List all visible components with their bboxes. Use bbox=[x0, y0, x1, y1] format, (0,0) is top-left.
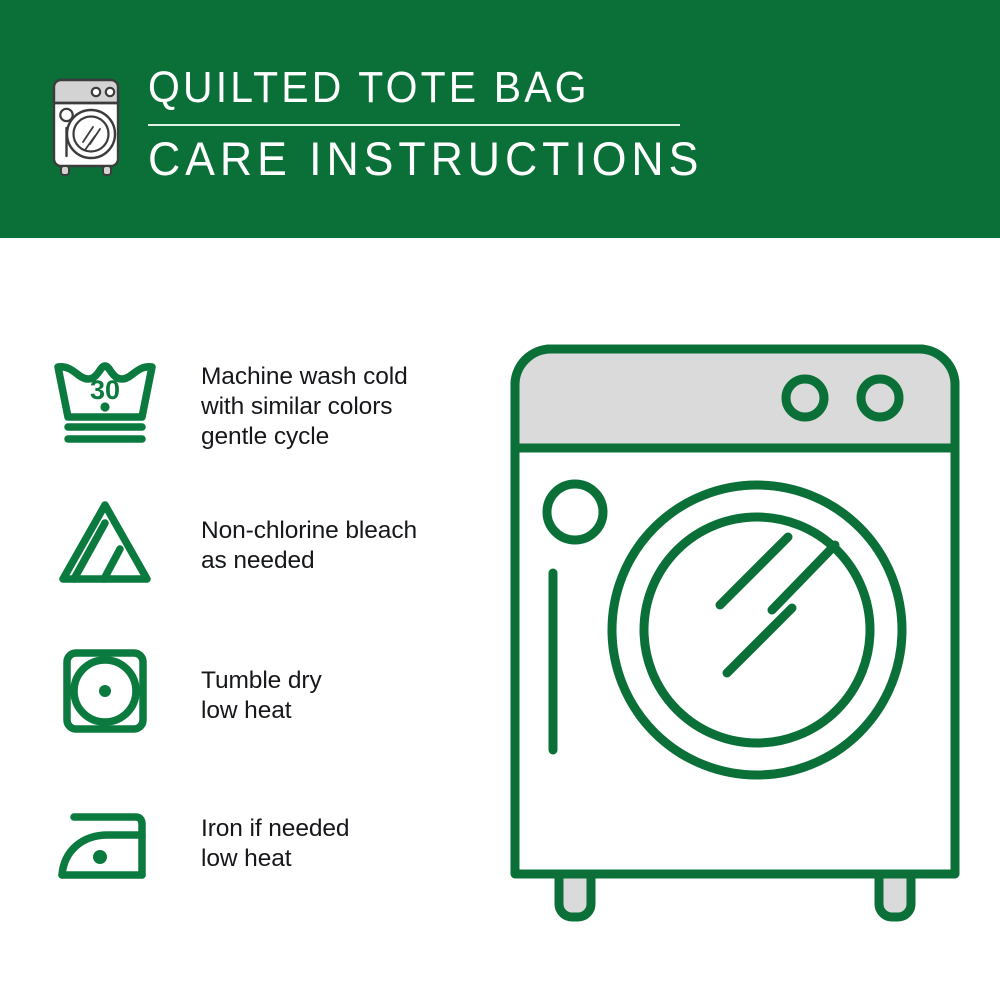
care-row-label: Non-chlorine bleach as needed bbox=[201, 488, 417, 576]
header-title-group: QUILTED TOTE BAG CARE INSTRUCTIONS bbox=[148, 62, 938, 188]
non-chlorine-bleach-triangle-icon bbox=[45, 488, 165, 598]
care-row: Non-chlorine bleach as needed bbox=[0, 488, 470, 598]
page-title: CARE INSTRUCTIONS bbox=[148, 130, 899, 188]
front-load-washing-machine-illustration bbox=[495, 330, 975, 930]
care-instructions-infographic: QUILTED TOTE BAG CARE INSTRUCTIONS 30 Ma… bbox=[0, 0, 1000, 1000]
care-instruction-list: 30 Machine wash cold with similar colors… bbox=[0, 238, 470, 1000]
iron-low-heat-icon bbox=[45, 788, 165, 898]
wash-temperature-label: 30 bbox=[90, 375, 120, 405]
care-row-label: Iron if needed low heat bbox=[201, 788, 349, 874]
header-banner: QUILTED TOTE BAG CARE INSTRUCTIONS bbox=[0, 0, 1000, 238]
knob-left bbox=[786, 379, 824, 417]
care-row: Tumble dry low heat bbox=[0, 638, 470, 748]
title-divider bbox=[148, 124, 680, 126]
knob-right bbox=[861, 379, 899, 417]
tumble-dry-low-icon bbox=[45, 638, 165, 748]
washing-machine-icon bbox=[44, 72, 136, 176]
care-row-label: Tumble dry low heat bbox=[201, 638, 322, 726]
care-row: Iron if needed low heat bbox=[0, 788, 470, 898]
leg-left bbox=[559, 874, 591, 917]
leg-right bbox=[879, 874, 911, 917]
care-row: 30 Machine wash cold with similar colors… bbox=[0, 346, 470, 456]
indicator-light bbox=[547, 484, 603, 540]
care-row-label: Machine wash cold with similar colors ge… bbox=[201, 346, 408, 452]
product-title: QUILTED TOTE BAG bbox=[148, 62, 883, 114]
wash-tub-30-gentle-icon: 30 bbox=[45, 346, 165, 456]
